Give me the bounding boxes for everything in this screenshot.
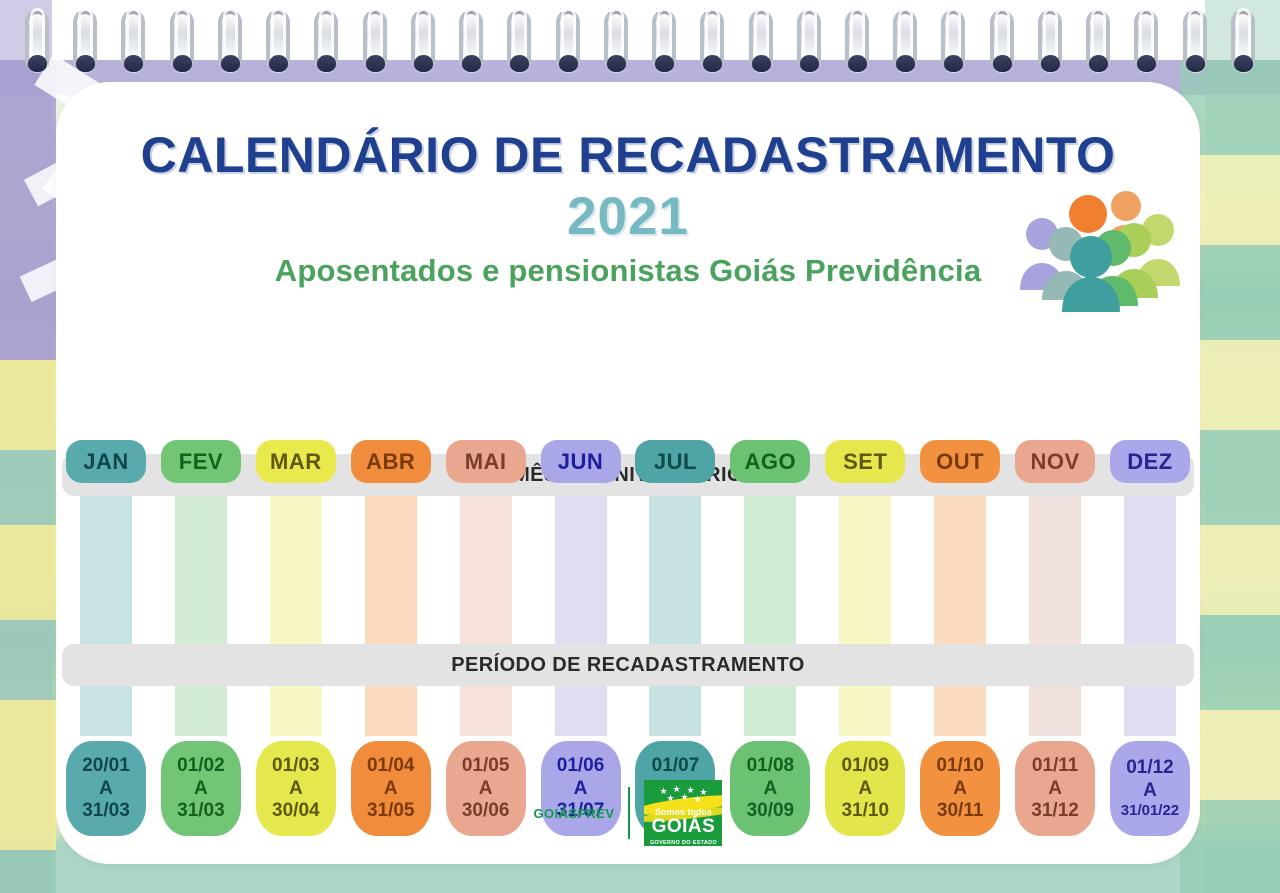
- month-column-fev: FEV01/02A31/03: [157, 366, 245, 836]
- period-start-date: 01/04: [367, 755, 415, 777]
- footer-logos: GOIÁSPREV ★ ★ ★ ★ ★ ★ ★ Somos todos GOIÁ…: [56, 780, 1200, 846]
- month-pill-fev[interactable]: FEV: [161, 440, 241, 483]
- column-stem: [270, 478, 322, 736]
- month-column-nov: NOV01/11A31/12: [1011, 366, 1099, 836]
- month-column-abr: ABR01/04A31/05: [347, 366, 435, 836]
- month-pill-mar[interactable]: MAR: [256, 440, 336, 483]
- period-start-date: 01/03: [272, 755, 320, 777]
- period-start-date: 01/11: [1032, 755, 1079, 777]
- page-title: CALENDÁRIO DE RECADASTRAMENTO: [56, 126, 1200, 184]
- month-pill-jun[interactable]: JUN: [541, 440, 621, 483]
- month-column-mai: MAI01/05A30/06: [442, 366, 530, 836]
- month-column-dez: DEZ01/12A31/01/22: [1106, 366, 1194, 836]
- column-stem: [934, 478, 986, 736]
- period-start-date: 01/10: [936, 755, 984, 777]
- calendar-infographic: CALENDÁRIO DE RECADASTRAMENTO 2021 Apose…: [0, 0, 1280, 893]
- month-column-set: SET01/09A31/10: [821, 366, 909, 836]
- column-stem: [649, 478, 701, 736]
- logo-subline: GOVERNO DO ESTADO: [650, 840, 717, 846]
- period-start-date: 01/07: [652, 755, 700, 777]
- month-column-out: OUT01/10A30/11: [916, 366, 1004, 836]
- month-pill-nov[interactable]: NOV: [1015, 440, 1095, 483]
- logo-wordmark: GOIÁS: [652, 817, 716, 836]
- column-stem: [744, 478, 796, 736]
- month-pill-out[interactable]: OUT: [920, 440, 1000, 483]
- column-stem: [175, 478, 227, 736]
- period-start-date: 01/05: [462, 755, 510, 777]
- month-column-jun: JUN01/06A31/07: [537, 366, 625, 836]
- column-stem: [839, 478, 891, 736]
- period-start-date: 01/06: [557, 755, 605, 777]
- month-column-mar: MAR01/03A30/04: [252, 366, 340, 836]
- month-column-jan: JAN20/01A31/03: [62, 366, 150, 836]
- section-bar-period: PERÍODO DE RECADASTRAMENTO: [62, 644, 1194, 686]
- month-column-ago: AGO01/08A30/09: [726, 366, 814, 836]
- column-stem: [1029, 478, 1081, 736]
- month-pill-jan[interactable]: JAN: [66, 440, 146, 483]
- column-stem: [80, 478, 132, 736]
- month-pill-dez[interactable]: DEZ: [1110, 440, 1190, 483]
- month-pill-set[interactable]: SET: [825, 440, 905, 483]
- people-group-icon: [1014, 182, 1184, 312]
- period-start-date: 01/09: [841, 755, 889, 777]
- period-start-date: 20/01: [82, 755, 130, 777]
- column-stem: [460, 478, 512, 736]
- logo-stars: ★ ★ ★ ★ ★ ★ ★: [655, 785, 711, 795]
- column-stem: [365, 478, 417, 736]
- month-pill-ago[interactable]: AGO: [730, 440, 810, 483]
- goias-government-logo: ★ ★ ★ ★ ★ ★ ★ Somos todos GOIÁS GOVERNO …: [644, 780, 722, 846]
- month-pill-jul[interactable]: JUL: [635, 440, 715, 483]
- period-start-date: 01/08: [747, 755, 795, 777]
- month-column-jul: JUL01/07A31/08: [631, 366, 719, 836]
- period-start-date: 01/02: [177, 755, 225, 777]
- period-start-date: 01/12: [1126, 757, 1174, 779]
- month-pill-mai[interactable]: MAI: [446, 440, 526, 483]
- calendar-grid: JAN20/01A31/03FEV01/02A31/03MAR01/03A30/…: [56, 366, 1200, 836]
- logo-divider: [628, 787, 630, 839]
- column-stem: [555, 478, 607, 736]
- month-columns: JAN20/01A31/03FEV01/02A31/03MAR01/03A30/…: [56, 366, 1200, 836]
- goiasprev-logo: GOIÁSPREV: [534, 806, 629, 821]
- calendar-card: CALENDÁRIO DE RECADASTRAMENTO 2021 Apose…: [56, 82, 1200, 864]
- column-stem: [1124, 478, 1176, 736]
- month-pill-abr[interactable]: ABR: [351, 440, 431, 483]
